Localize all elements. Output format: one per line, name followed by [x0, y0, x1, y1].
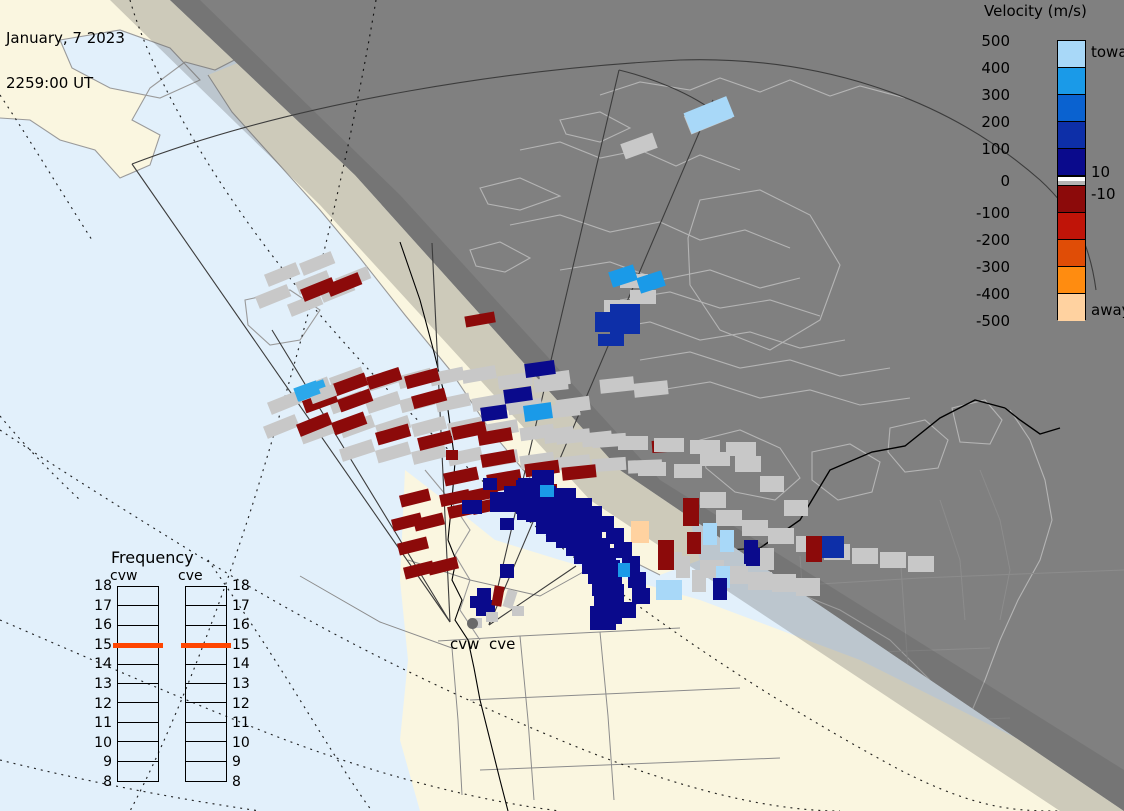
frequency-scale-label: 17	[86, 598, 112, 614]
frequency-scale-label: 16	[232, 617, 250, 633]
frequency-legend: Frequency cvw cve 18171615141312111098 1…	[86, 548, 246, 788]
frequency-scale-label: 16	[86, 617, 112, 633]
frequency-scale-label: 18	[232, 578, 250, 594]
colorbar-away-label: away	[1091, 301, 1124, 319]
colorbar-band	[1058, 267, 1085, 294]
frequency-scale-label: 15	[86, 637, 112, 653]
frequency-header-cve: cve	[178, 568, 203, 584]
frequency-cell	[118, 703, 158, 722]
frequency-scale-label: 8	[232, 774, 241, 790]
radar-velocity-map: cvw cve January, 7 2023 2259:00 UT Veloc…	[0, 0, 1124, 811]
frequency-cell	[118, 762, 158, 781]
frequency-cell	[186, 587, 226, 606]
frequency-cell	[186, 742, 226, 761]
frequency-scale-label: 10	[86, 735, 112, 751]
frequency-scale-label: 10	[232, 735, 250, 751]
frequency-cell	[186, 645, 226, 664]
frequency-marker-cvw	[113, 643, 163, 648]
frequency-marker-cve	[181, 643, 231, 648]
frequency-cell	[118, 606, 158, 625]
colorbar-tick-label: -400	[976, 285, 1010, 303]
frequency-scale-label: 12	[86, 696, 112, 712]
frequency-scale-label: 11	[86, 715, 112, 731]
colorbar-band	[1058, 213, 1085, 240]
colorbar-band	[1058, 41, 1085, 68]
frequency-cell	[186, 762, 226, 781]
frequency-cell	[186, 703, 226, 722]
frequency-bar-cve	[185, 586, 227, 782]
frequency-title: Frequency	[111, 548, 194, 567]
colorbar-band	[1058, 294, 1085, 321]
frequency-cell	[118, 684, 158, 703]
colorbar-zero-gap	[1058, 176, 1085, 186]
frequency-cell	[118, 742, 158, 761]
frequency-cell	[186, 665, 226, 684]
frequency-bar-cvw	[117, 586, 159, 782]
frequency-scale-label: 12	[232, 696, 250, 712]
frequency-header-cvw: cvw	[110, 568, 137, 584]
colorbar-inner-low-label: -10	[1091, 185, 1116, 203]
frequency-scale-label: 14	[232, 656, 250, 672]
colorbar-band	[1058, 186, 1085, 213]
colorbar-title: Velocity (m/s)	[984, 2, 1087, 20]
frequency-cell	[186, 606, 226, 625]
colorbar-tick-label: 200	[981, 113, 1010, 131]
frequency-scale-label: 13	[232, 676, 250, 692]
frequency-cell	[118, 665, 158, 684]
frequency-cell	[118, 645, 158, 664]
station-label-cve: cve	[489, 635, 515, 653]
frequency-scale-label: 9	[86, 754, 112, 770]
colorbar-tick-label: 400	[981, 59, 1010, 77]
frequency-scale-label: 13	[86, 676, 112, 692]
station-label-cvw: cvw	[450, 635, 479, 653]
colorbar-tick-label: 300	[981, 86, 1010, 104]
frequency-scale-label: 11	[232, 715, 250, 731]
colorbar-band	[1058, 149, 1085, 176]
frequency-scale-label: 18	[86, 578, 112, 594]
colorbar-band	[1058, 95, 1085, 122]
frequency-scale-label: 17	[232, 598, 250, 614]
frequency-cell	[186, 684, 226, 703]
frequency-scale-label: 14	[86, 656, 112, 672]
colorbar-band	[1058, 122, 1085, 149]
station-marker-dot	[467, 618, 478, 629]
colorbar-gradient	[1057, 40, 1086, 320]
colorbar-band	[1058, 68, 1085, 95]
colorbar-inner-high-label: 10	[1091, 163, 1110, 181]
timestamp-title: January, 7 2023 2259:00 UT	[6, 1, 125, 121]
colorbar-tick-label: 100	[981, 140, 1010, 158]
colorbar-band	[1058, 240, 1085, 267]
colorbar-tick-label: 0	[1000, 172, 1010, 190]
colorbar-toward-label: toward	[1091, 43, 1124, 61]
colorbar-tick-label: -100	[976, 204, 1010, 222]
colorbar-tick-label: -500	[976, 312, 1010, 330]
frequency-cell	[118, 587, 158, 606]
frequency-cell	[118, 723, 158, 742]
colorbar-tick-label: 500	[981, 32, 1010, 50]
frequency-scale-label: 9	[232, 754, 241, 770]
title-date: January, 7 2023	[6, 31, 125, 46]
frequency-scale-label: 8	[86, 774, 112, 790]
colorbar-tick-label: -300	[976, 258, 1010, 276]
frequency-scale-label: 15	[232, 637, 250, 653]
colorbar-tick-label: -200	[976, 231, 1010, 249]
frequency-cell	[186, 723, 226, 742]
title-time: 2259:00 UT	[6, 76, 125, 91]
velocity-colorbar: Velocity (m/s) 5004003002001000-100-200-…	[976, 2, 1124, 332]
